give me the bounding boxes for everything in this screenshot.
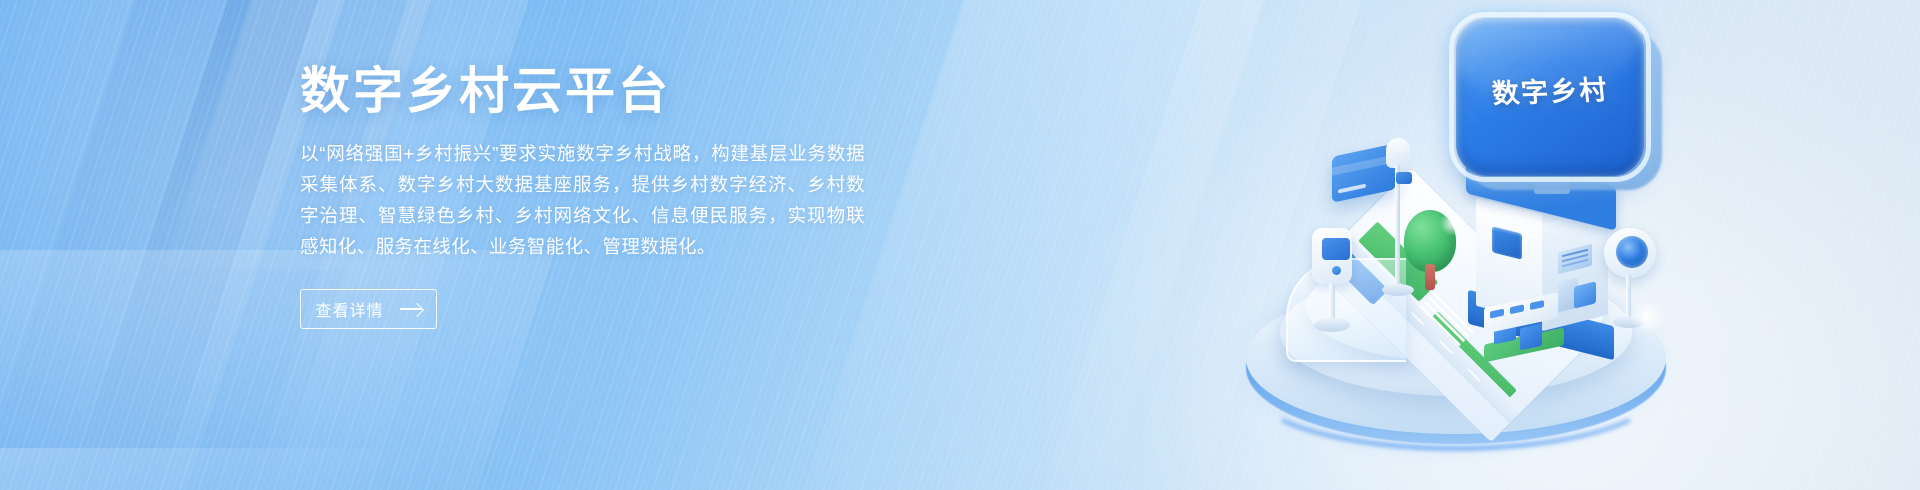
tree-trunk — [1425, 264, 1435, 290]
banner-content: 数字乡村云平台 以“网络强国+乡村振兴”要求实施数字乡村战略，构建基层业务数据采… — [300, 62, 900, 329]
digital-billboard: 数字乡村 — [1456, 18, 1660, 198]
digital-village-illustration: 数字乡村 — [1200, 0, 1720, 490]
stall-crate-b — [1520, 324, 1542, 351]
background-facet-dark — [59, 0, 331, 490]
tree — [1398, 210, 1462, 294]
terminal-screen — [1322, 238, 1350, 260]
page-title: 数字乡村云平台 — [300, 62, 900, 121]
camera-base — [1613, 316, 1645, 328]
terminal-button — [1332, 266, 1341, 275]
camera-pole — [1626, 274, 1631, 322]
terminal-head — [1312, 228, 1352, 284]
billboard-frame — [1449, 12, 1651, 182]
terminal-base — [1314, 318, 1350, 332]
camera-lens-icon — [1616, 236, 1648, 268]
surveillance-camera — [1596, 228, 1662, 336]
background-bottom-band — [0, 448, 430, 490]
hero-banner: 数字乡村云平台 以“网络强国+乡村振兴”要求实施数字乡村战略，构建基层业务数据采… — [0, 0, 1920, 490]
view-details-label: 查看详情 — [315, 297, 383, 321]
banner-description: 以“网络强国+乡村振兴”要求实施数字乡村战略，构建基层业务数据采集体系、数字乡村… — [300, 138, 865, 262]
view-details-button[interactable]: 查看详情 — [300, 289, 437, 329]
market-stall — [1484, 300, 1570, 352]
lamp-sensor-chip — [1396, 172, 1412, 184]
info-terminal — [1308, 228, 1356, 328]
camera-housing — [1604, 228, 1656, 278]
arrow-right-icon — [400, 303, 422, 315]
tree-foliage — [1404, 210, 1456, 272]
